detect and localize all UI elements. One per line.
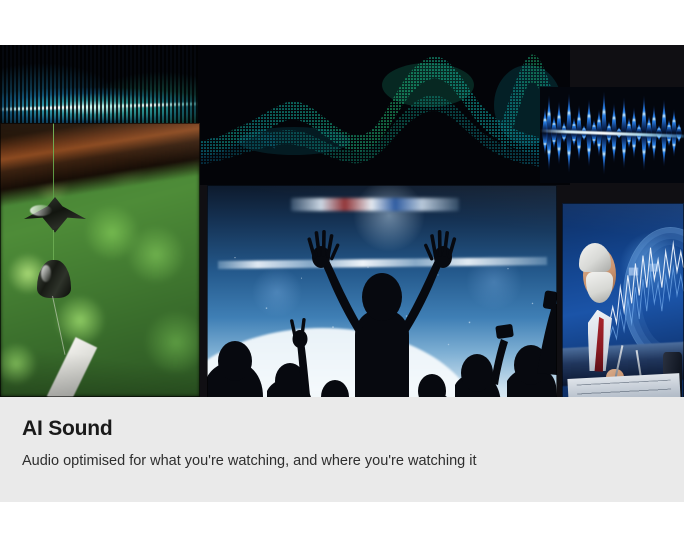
caption-block: AI Sound Audio optimised for what you're…: [0, 397, 684, 502]
mesh-ribbon-svg: [198, 45, 570, 185]
audio-amplitude-waveform: [540, 87, 684, 183]
bottom-gutter: [0, 502, 684, 547]
panel-arena-crowd: [207, 185, 557, 397]
chime-cord-lower: [53, 230, 54, 263]
spectrum-centre-line: [0, 102, 205, 111]
ai-sound-feature-page: AI Sound Audio optimised for what you're…: [0, 0, 684, 547]
chime-cord-upper: [53, 123, 54, 202]
feature-subtitle: Audio optimised for what you're watching…: [22, 453, 476, 470]
top-gutter: [0, 0, 684, 45]
arena-crowd-silhouettes: [207, 185, 557, 397]
chime-bell-highlight: [41, 265, 51, 281]
feature-title: AI Sound: [22, 418, 113, 439]
panel-studio-presenter: [562, 203, 684, 397]
mesh-ribbon-waveform: [198, 45, 570, 185]
ai-sound-hero: [0, 45, 684, 397]
panel-wind-chime: [0, 123, 200, 397]
crowd-silhouette-svg: [207, 185, 557, 397]
